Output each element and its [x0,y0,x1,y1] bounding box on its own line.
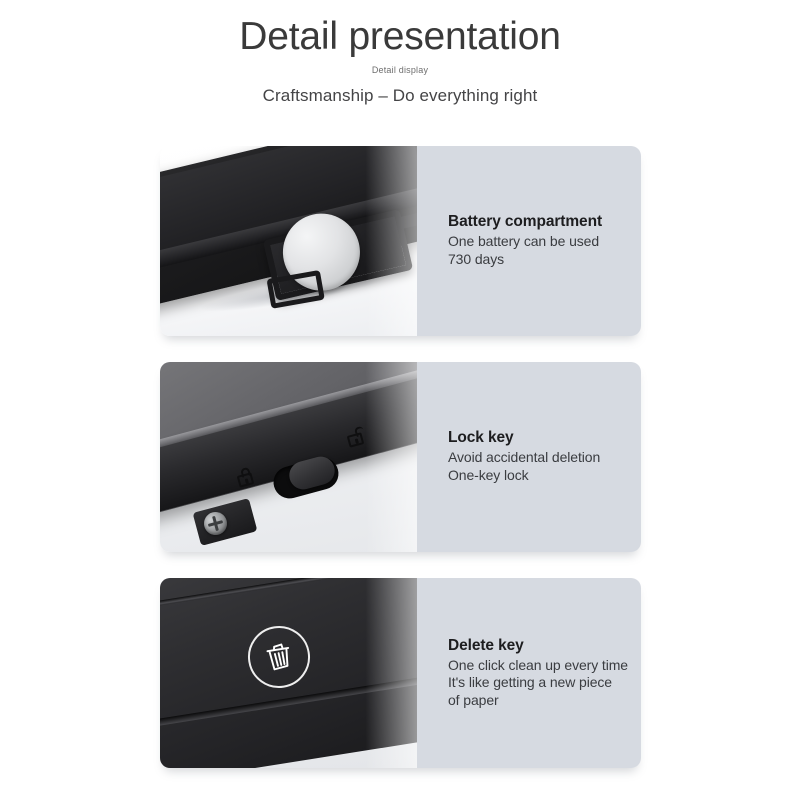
battery-compartment-text-panel: Battery compartment One battery can be u… [417,146,641,336]
lock-keyhole [245,478,249,483]
card-line: One-key lock [448,467,641,485]
feature-card-delete-key: Delete key One click clean up every time… [160,578,641,768]
card-line: of paper [448,692,641,710]
feature-card-list: Battery compartment One battery can be u… [160,146,641,794]
card-heading: Delete key [448,637,641,655]
detail-presentation-page: Detail presentation Detail display Craft… [0,0,800,800]
page-header: Detail presentation Detail display Craft… [0,0,800,106]
card-line: Avoid accidental deletion [448,449,641,467]
feature-card-lock-key: Lock key Avoid accidental deletion One-k… [160,362,641,552]
card-line: 730 days [448,251,641,269]
page-title: Detail presentation [0,14,800,60]
lock-key-photo [160,362,417,552]
card-heading: Battery compartment [448,213,641,231]
lock-key-text-panel: Lock key Avoid accidental deletion One-k… [417,362,641,552]
delete-key-photo [160,578,417,768]
card-line: One battery can be used [448,233,641,251]
feature-card-battery-compartment: Battery compartment One battery can be u… [160,146,641,336]
page-subtitle-small: Detail display [0,65,800,75]
page-tagline: Craftsmanship – Do everything right [0,86,800,106]
battery-compartment-photo [160,146,417,336]
card-line: It's like getting a new piece [448,674,641,692]
card-line: One click clean up every time [448,657,641,675]
delete-key-text-panel: Delete key One click clean up every time… [417,578,641,768]
card-heading: Lock key [448,429,641,447]
lock-keyhole [355,438,359,443]
